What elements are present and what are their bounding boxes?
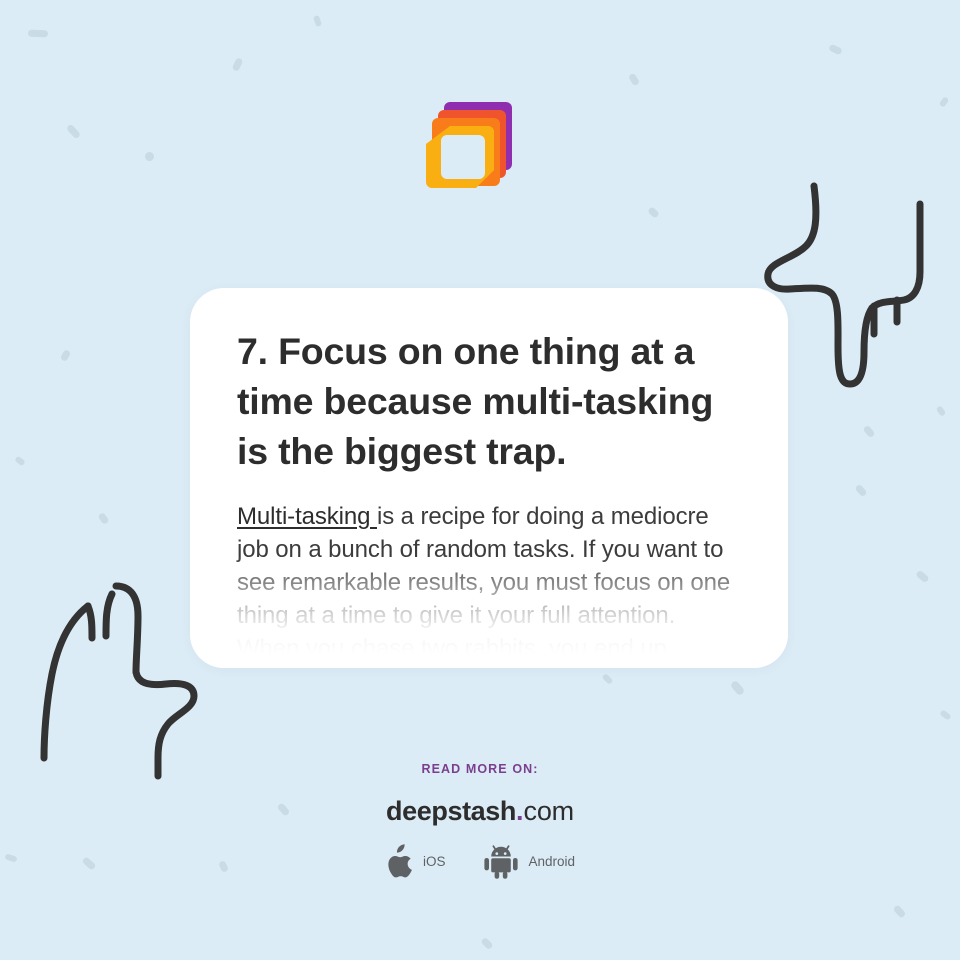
brand-wordmark[interactable]: deepstash.com xyxy=(0,798,960,825)
hand-doodle-top-right xyxy=(762,176,952,401)
background-speck xyxy=(828,44,843,56)
background-speck xyxy=(66,124,81,140)
card-inner: 7. Focus on one thing at a time because … xyxy=(190,288,788,668)
background-speck xyxy=(854,484,867,498)
card-body-lead-link[interactable]: Multi-tasking xyxy=(237,503,377,530)
content-card: 7. Focus on one thing at a time because … xyxy=(190,288,788,668)
background-speck xyxy=(862,425,875,439)
card-body: Multi-tasking is a recipe for doing a me… xyxy=(237,500,742,668)
logo-inner-cutout xyxy=(441,135,485,179)
background-speck xyxy=(936,405,947,417)
card-title: 7. Focus on one thing at a time because … xyxy=(237,326,742,476)
background-speck xyxy=(730,680,746,697)
hand-doodle-bottom-left xyxy=(26,562,206,787)
app-store-badges: iOS xyxy=(0,843,960,879)
background-speck xyxy=(313,15,322,27)
ios-store-label: iOS xyxy=(423,854,446,869)
background-speck xyxy=(97,512,109,525)
android-icon xyxy=(483,843,519,879)
background-speck xyxy=(647,206,660,219)
background-speck xyxy=(939,709,951,720)
background-speck xyxy=(144,151,156,163)
footer: READ MORE ON: deepstash.com iOS xyxy=(0,762,960,879)
poster-canvas: 7. Focus on one thing at a time because … xyxy=(0,0,960,960)
android-store-badge[interactable]: Android xyxy=(483,843,575,879)
background-speck xyxy=(601,673,613,685)
background-speck xyxy=(28,30,48,38)
apple-icon xyxy=(385,844,414,879)
android-store-label: Android xyxy=(528,854,575,869)
background-speck xyxy=(480,937,493,950)
brand-name: deepstash xyxy=(386,796,516,826)
background-speck xyxy=(893,904,907,918)
background-speck xyxy=(628,73,640,87)
brand-dot: . xyxy=(516,796,524,826)
ios-store-badge[interactable]: iOS xyxy=(385,844,446,879)
background-speck xyxy=(60,349,72,362)
read-more-label: READ MORE ON: xyxy=(0,762,960,776)
background-speck xyxy=(232,57,244,72)
background-speck xyxy=(939,96,950,108)
deepstash-logo xyxy=(424,98,524,202)
brand-tld: com xyxy=(524,796,574,826)
background-speck xyxy=(14,456,26,467)
background-speck xyxy=(915,570,929,584)
